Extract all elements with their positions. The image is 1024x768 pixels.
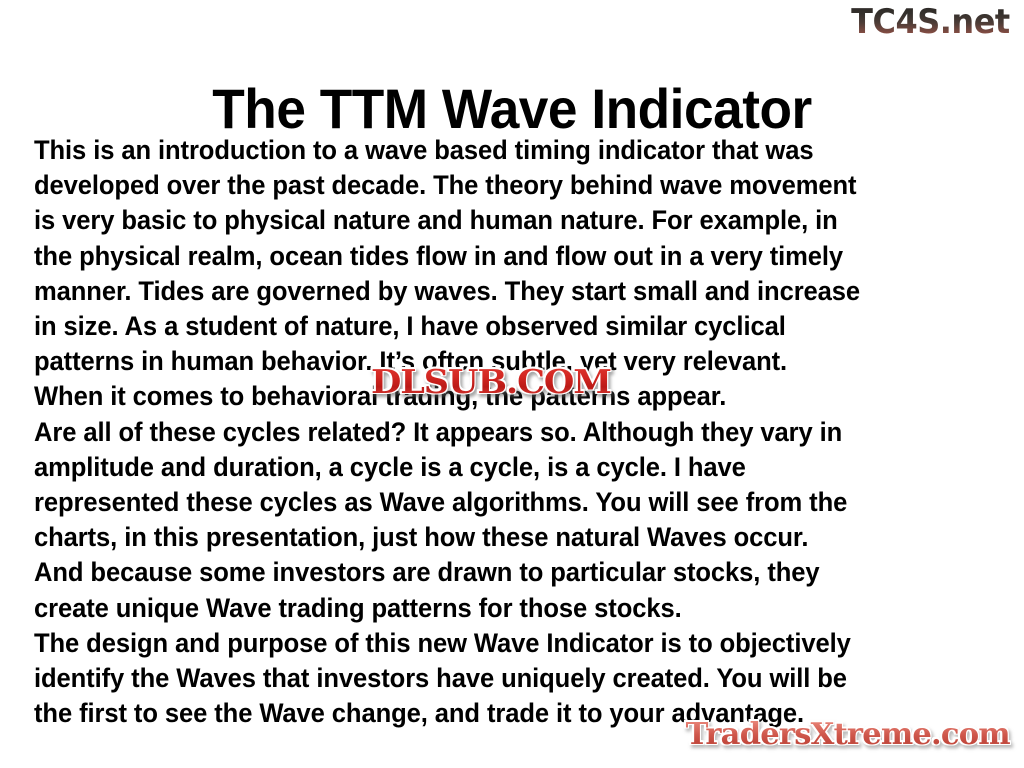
body-line: charts, in this presentation, just how t… [34,520,972,555]
body-line: represented these cycles as Wave algorit… [34,485,972,520]
body-line: in size. As a student of nature, I have … [34,309,972,344]
body-line: patterns in human behavior. It’s often s… [34,344,972,379]
body-text-block: This is an introduction to a wave based … [34,133,1006,731]
body-line: manner. Tides are governed by waves. The… [34,274,972,309]
tc4s-brand-logo: TC4S.net [851,2,1010,42]
body-line: Are all of these cycles related? It appe… [34,415,972,450]
tradersxtreme-footer-logo: TradersXtreme.com [686,716,1010,754]
body-line: identify the Waves that investors have u… [34,661,972,696]
body-line: the physical realm, ocean tides flow in … [34,239,972,274]
body-line: When it comes to behavioral trading, the… [34,379,972,414]
body-line: is very basic to physical nature and hum… [34,203,972,238]
body-line: This is an introduction to a wave based … [34,133,972,168]
page-title: The TTM Wave Indicator [26,76,999,142]
body-line: developed over the past decade. The theo… [34,168,972,203]
body-line: And because some investors are drawn to … [34,555,972,590]
presentation-slide: TC4S.net The TTM Wave Indicator This is … [0,0,1024,768]
body-line: amplitude and duration, a cycle is a cyc… [34,450,972,485]
body-line: The design and purpose of this new Wave … [34,626,972,661]
body-line: create unique Wave trading patterns for … [34,591,972,626]
